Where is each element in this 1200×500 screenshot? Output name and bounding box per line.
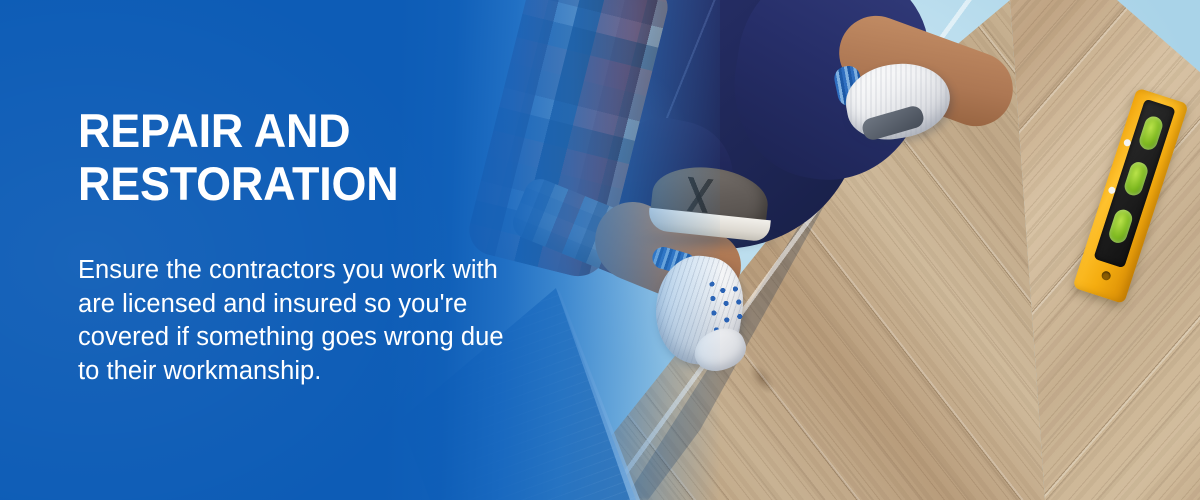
level-bubble-vial [1107,207,1135,245]
page-title: Repair and Restoration [78,104,517,210]
repair-restoration-banner: Repair and Restoration Ensure the contra… [0,0,1200,500]
text-content: Repair and Restoration Ensure the contra… [78,104,538,388]
body-paragraph: Ensure the contractors you work with are… [78,254,530,388]
headline-line-2: Restoration [78,157,517,210]
level-bubble-vial [1137,114,1165,152]
headline-line-1: Repair and [78,104,517,157]
level-bubble-vial [1122,160,1150,198]
